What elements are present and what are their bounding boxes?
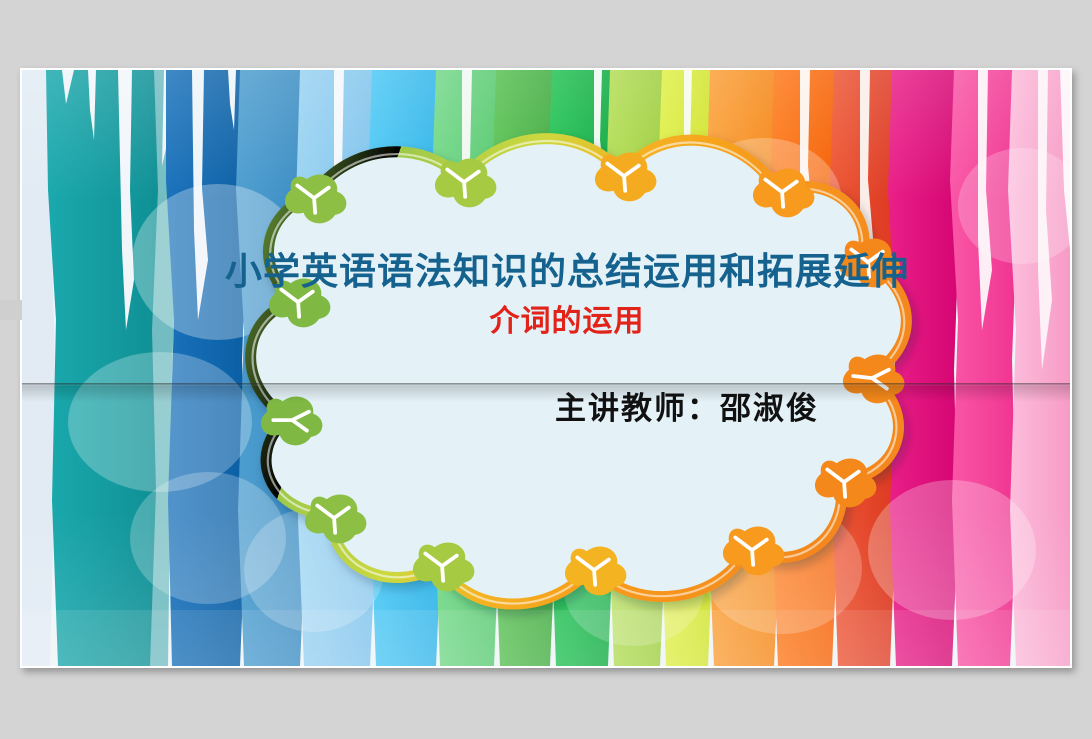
title-block: 小学英语语法知识的总结运用和拓展延伸 介词的运用 xyxy=(172,250,962,344)
presenter-label: 主讲教师：邵淑俊 xyxy=(452,383,922,428)
slide-canvas: 小学英语语法知识的总结运用和拓展延伸 介词的运用 主讲教师：邵淑俊 xyxy=(22,70,1070,666)
seam-left-gutter xyxy=(0,300,22,320)
page-background: 小学英语语法知识的总结运用和拓展延伸 介词的运用 主讲教师：邵淑俊 xyxy=(0,0,1092,739)
page-subtitle: 介词的运用 xyxy=(172,299,962,344)
page-title: 小学英语语法知识的总结运用和拓展延伸 xyxy=(172,250,962,295)
scalloped-panel xyxy=(162,118,962,618)
